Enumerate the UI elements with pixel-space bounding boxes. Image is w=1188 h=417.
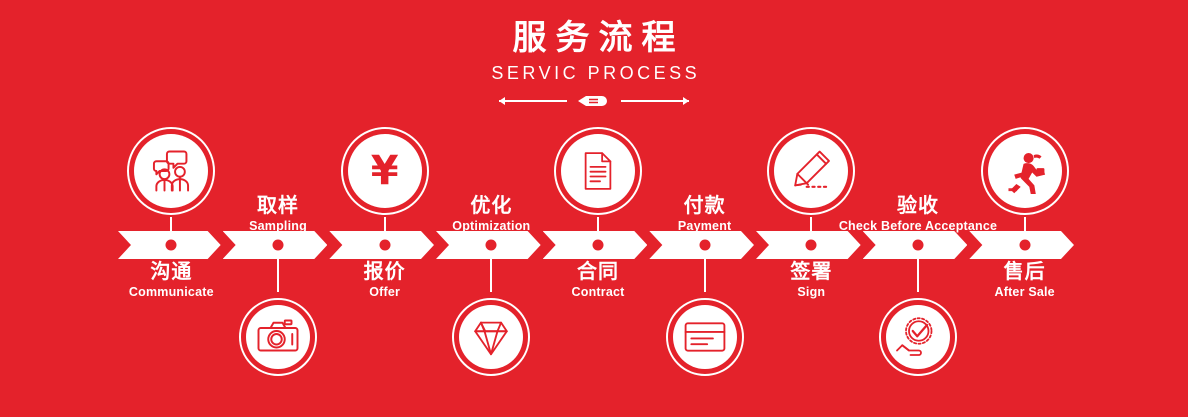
step-node-dot (166, 240, 177, 251)
page-title-en: SERVIC PROCESS (0, 61, 1188, 85)
step-label-en: Contract (572, 284, 625, 300)
step-label-2: 取样Sampling (249, 193, 307, 234)
step-label-en: Communicate (129, 284, 214, 300)
step-label-en: Optimization (452, 218, 530, 234)
step-label-7: 签署Sign (790, 259, 832, 300)
step-icon-circle-4[interactable] (452, 298, 530, 376)
step-label-cn: 优化 (452, 193, 530, 218)
connector-line (597, 217, 599, 239)
page-title-cn: 服务流程 (0, 18, 1188, 58)
step-label-cn: 付款 (678, 193, 732, 218)
step-label-cn: 签署 (790, 259, 832, 284)
camera-icon (246, 305, 310, 369)
step-label-cn: 合同 (572, 259, 625, 284)
yen-glyph: ¥ (371, 151, 399, 191)
connector-line (704, 252, 706, 292)
yen-currency-icon: ¥ (348, 134, 422, 208)
step-label-4: 优化Optimization (452, 193, 530, 234)
running-delivery-person-icon (988, 134, 1062, 208)
step-label-cn: 沟通 (129, 259, 214, 284)
step-label-6: 付款Payment (678, 193, 732, 234)
step-node-dot (486, 240, 497, 251)
step-icon-circle-1[interactable] (127, 127, 215, 215)
step-node-dot (1019, 240, 1030, 251)
step-label-5: 合同Contract (572, 259, 625, 300)
connector-line (1024, 217, 1026, 239)
pencil-signing-icon (774, 134, 848, 208)
step-icon-circle-8[interactable] (879, 298, 957, 376)
connector-line (917, 252, 919, 292)
step-label-cn: 取样 (249, 193, 307, 218)
service-process-banner: 服务流程 SERVIC PROCESS 沟通Communicate取样Sampl… (0, 0, 1188, 417)
step-node-dot (273, 240, 284, 251)
step-node-dot (913, 240, 924, 251)
connector-line (490, 252, 492, 292)
step-label-3: 报价Offer (364, 259, 406, 300)
step-label-8: 验收Check Before Acceptance (839, 193, 997, 234)
step-label-en: Sign (790, 284, 832, 300)
step-label-cn: 报价 (364, 259, 406, 284)
step-icon-circle-2[interactable] (239, 298, 317, 376)
divider-right-line (621, 100, 689, 102)
step-label-en: After Sale (994, 284, 1054, 300)
step-label-en: Sampling (249, 218, 307, 234)
step-node-dot (699, 240, 710, 251)
diamond-icon (459, 305, 523, 369)
step-label-en: Offer (364, 284, 406, 300)
step-icon-circle-6[interactable] (666, 298, 744, 376)
step-label-1: 沟通Communicate (129, 259, 214, 300)
step-node-dot (379, 240, 390, 251)
step-node-dot (806, 240, 817, 251)
step-label-en: Check Before Acceptance (839, 218, 997, 234)
divider-left-line (499, 100, 567, 102)
paperclip-ornament-icon (564, 94, 624, 108)
step-label-cn: 验收 (839, 193, 997, 218)
step-label-9: 售后After Sale (994, 259, 1054, 300)
step-icon-circle-9[interactable] (981, 127, 1069, 215)
step-icon-circle-3[interactable]: ¥ (341, 127, 429, 215)
title-divider (499, 94, 689, 108)
connector-line (810, 217, 812, 239)
hand-check-badge-icon (886, 305, 950, 369)
step-label-cn: 售后 (994, 259, 1054, 284)
divider-right-cap-icon (683, 97, 689, 105)
step-node-dot (593, 240, 604, 251)
connector-line (384, 217, 386, 239)
banner-header: 服务流程 SERVIC PROCESS (0, 18, 1188, 108)
document-contract-icon (561, 134, 635, 208)
step-icon-circle-5[interactable] (554, 127, 642, 215)
connector-line (170, 217, 172, 239)
people-speech-bubbles-icon (134, 134, 208, 208)
credit-card-icon (673, 305, 737, 369)
step-label-en: Payment (678, 218, 732, 234)
connector-line (277, 252, 279, 292)
